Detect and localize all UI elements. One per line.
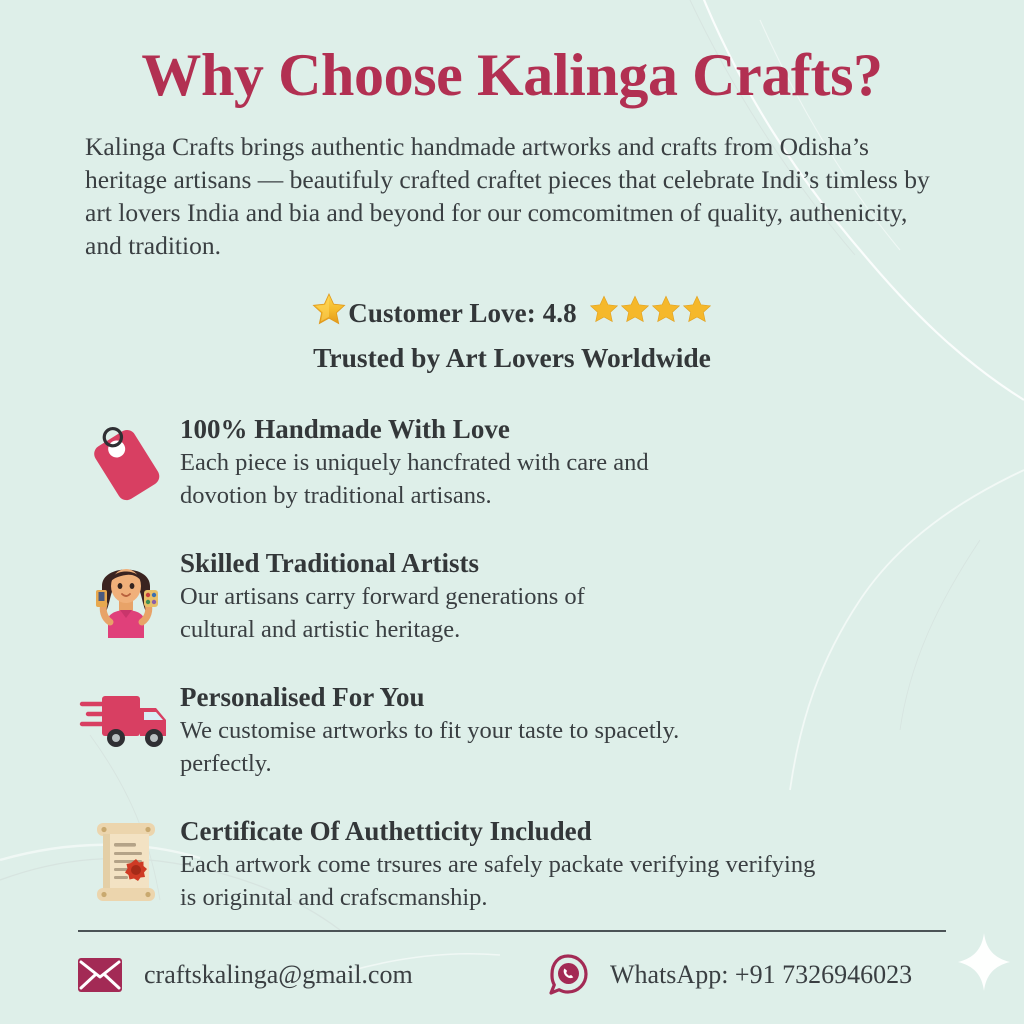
- feature-text: 100% Handmade With Love Each piece is un…: [174, 414, 946, 513]
- feature-desc-line-1: Each artwork come trsures are safely pac…: [180, 849, 946, 882]
- feature-desc-line-1: We customise artworks to fit your taste …: [180, 715, 946, 748]
- woman-artist-icon: [78, 548, 174, 644]
- trusted-tagline: Trusted by Art Lovers Worldwide: [78, 342, 946, 374]
- footer: craftskalinga@gmail.com WhatsApp: +91 73…: [78, 930, 946, 996]
- feature-desc-line-1: Our artisans carry forward generations o…: [180, 581, 946, 614]
- feature-text: Skilled Traditional Artists Our artisans…: [174, 548, 946, 647]
- contact-row: craftskalinga@gmail.com WhatsApp: +91 73…: [78, 954, 946, 996]
- rating-label: Customer Love: 4.8: [348, 297, 577, 329]
- feature-desc-line-2: is originıtal and crafscmanship.: [180, 882, 946, 915]
- page-title: Why Choose Kalinga Crafts?: [78, 0, 946, 108]
- feature-text: Certificate Of Authetticity Included Eac…: [174, 816, 946, 915]
- email-address: craftskalinga@gmail.com: [144, 960, 413, 990]
- envelope-icon: [78, 958, 122, 992]
- customer-love-line: Customer Love: 4.8: [78, 292, 946, 333]
- footer-divider: [78, 930, 946, 932]
- feature-title: Certificate Of Authetticity Included: [180, 816, 946, 848]
- rating-block: Customer Love: 4.8 Trusted by: [78, 292, 946, 373]
- poster-content: Why Choose Kalinga Crafts? Kalinga Craft…: [0, 0, 1024, 928]
- star-rating: [589, 294, 712, 331]
- whatsapp-number: WhatsApp: +91 7326946023: [610, 960, 912, 990]
- glowing-star-icon: [312, 292, 346, 333]
- email-contact[interactable]: craftskalinga@gmail.com: [78, 958, 548, 992]
- intro-paragraph: Kalinga Crafts brings authentic handmade…: [78, 130, 946, 263]
- feature-list: 100% Handmade With Love Each piece is un…: [78, 414, 946, 928]
- star-icon: [651, 294, 681, 331]
- whatsapp-contact[interactable]: WhatsApp: +91 7326946023: [548, 954, 912, 996]
- star-icon: [620, 294, 650, 331]
- whatsapp-icon: [548, 954, 588, 996]
- sparkle-icon: [956, 931, 1012, 998]
- star-icon: [589, 294, 619, 331]
- delivery-truck-icon: [78, 682, 174, 778]
- feature-item: Skilled Traditional Artists Our artisans…: [78, 548, 946, 660]
- feature-title: 100% Handmade With Love: [180, 414, 946, 446]
- feature-title: Personalised For You: [180, 682, 946, 714]
- feature-item: Certificate Of Authetticity Included Eac…: [78, 816, 946, 928]
- feature-desc-line-2: cultural and artistic heritage.: [180, 614, 946, 647]
- feature-desc-line-2: dovotion by traditional artisans.: [180, 480, 946, 513]
- poster-canvas: Why Choose Kalinga Crafts? Kalinga Craft…: [0, 0, 1024, 1024]
- feature-title: Skilled Traditional Artists: [180, 548, 946, 580]
- feature-desc-line-1: Each piece is uniquely hancfrated with c…: [180, 447, 946, 480]
- feature-desc-line-2: perfectly.: [180, 748, 946, 781]
- feature-item: 100% Handmade With Love Each piece is un…: [78, 414, 946, 526]
- certificate-scroll-icon: [78, 816, 174, 912]
- feature-text: Personalised For You We customise artwor…: [174, 682, 946, 781]
- price-tag-icon: [78, 414, 174, 510]
- star-icon: [682, 294, 712, 331]
- feature-item: Personalised For You We customise artwor…: [78, 682, 946, 794]
